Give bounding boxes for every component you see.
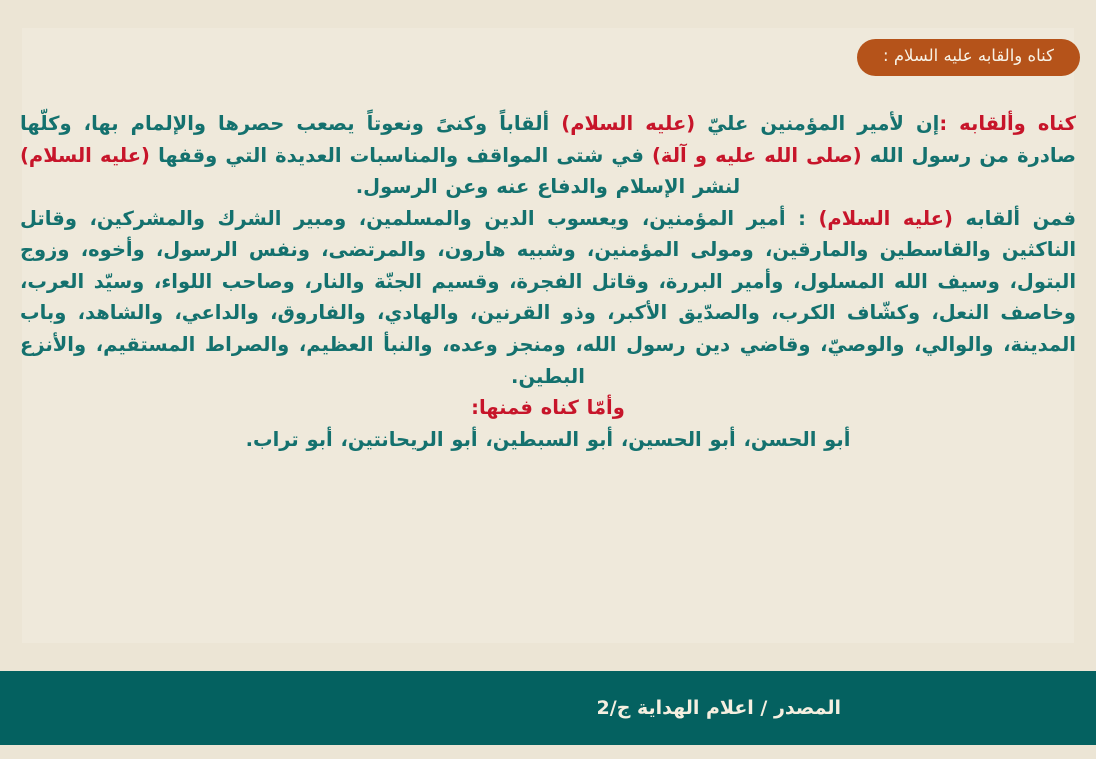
- p2-seg-0: فمن ألقابه: [953, 207, 1076, 230]
- document-body: كناه وألقابه :إن لأمير المؤمنين عليّ (عل…: [20, 108, 1076, 455]
- footer-source-text: المصدر / اعلام الهداية ج/2: [597, 697, 841, 719]
- p1-seg-5: (عليه السلام): [20, 144, 150, 167]
- bottom-strip: [0, 745, 1096, 759]
- paragraph-one: كناه وألقابه :إن لأمير المؤمنين عليّ (عل…: [20, 108, 1076, 203]
- document-page: كناه والقابه عليه السلام : كناه وألقابه …: [0, 0, 1096, 759]
- kunya-intro-line: وأمّا كناه فمنها:: [20, 392, 1076, 424]
- p1-seg-0: إن لأمير المؤمنين عليّ: [695, 112, 939, 135]
- p1-seg-1: (عليه السلام): [561, 112, 695, 135]
- paragraph-two: فمن ألقابه (عليه السلام) : أمير المؤمنين…: [20, 203, 1076, 392]
- paragraph-one-lead: كناه وألقابه :: [939, 112, 1076, 135]
- p2-seg-1: (عليه السلام): [818, 207, 952, 230]
- p2-seg-2: : أمير المؤمنين، ويعسوب الدين والمسلمين،…: [20, 207, 1076, 388]
- p1-seg-6: لنشر الإسلام والدفاع عنه وعن الرسول.: [356, 175, 740, 198]
- header-badge: كناه والقابه عليه السلام :: [857, 39, 1080, 76]
- footer-bar: المصدر / اعلام الهداية ج/2: [0, 671, 1096, 745]
- p1-seg-3: (صلى الله عليه و آلة): [652, 144, 862, 167]
- p1-seg-4: في شتى المواقف والمناسبات العديدة التي و…: [150, 144, 652, 167]
- kunya-list-line: أبو الحسن، أبو الحسين، أبو السبطين، أبو …: [20, 424, 1076, 456]
